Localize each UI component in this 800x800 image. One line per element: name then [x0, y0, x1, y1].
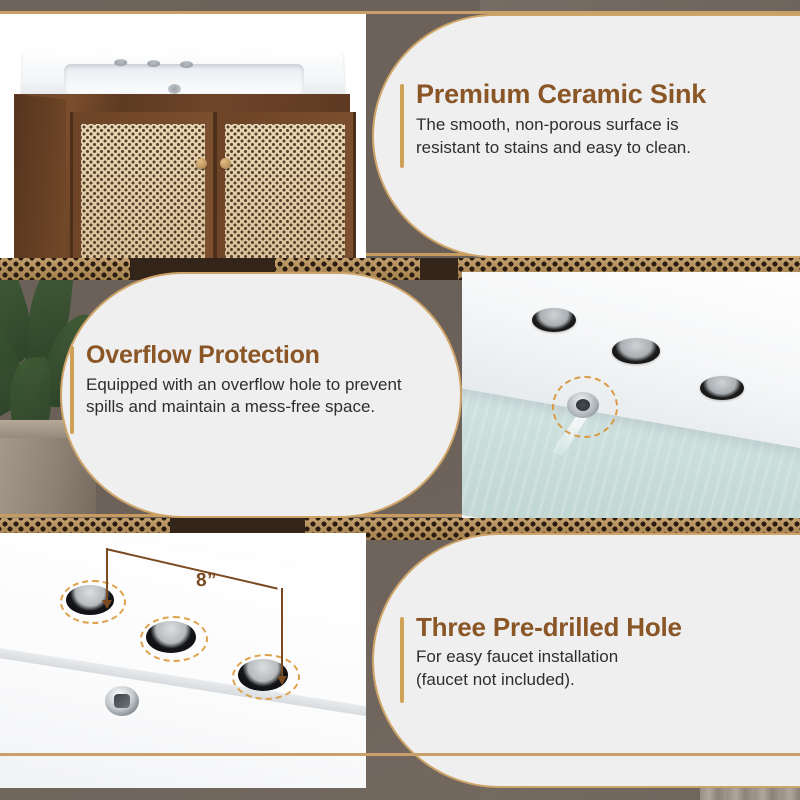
product-infographic: Premium Ceramic Sink The smooth, non-por…	[0, 0, 800, 800]
faucet-hole	[180, 61, 193, 68]
pre-drilled-hole-1-highlight	[60, 580, 126, 624]
dimension-label: 8”	[196, 570, 217, 592]
accent-bar	[70, 346, 74, 434]
feature-description-line2: (faucet not included).	[416, 669, 760, 692]
feature-description-line1: For easy faucet installation	[416, 647, 618, 666]
feature-text-block: Overflow Protection Equipped with an ove…	[86, 342, 430, 419]
cabinet-door-right	[214, 112, 356, 258]
pre-drilled-hole-2-highlight	[140, 616, 208, 662]
faucet-hole	[612, 338, 660, 364]
door-knob-left	[196, 158, 207, 169]
sink-basin	[63, 64, 304, 94]
sink-overflow-hole	[168, 84, 181, 94]
cabinet-door-left	[70, 112, 216, 258]
photo-overflow-protection	[462, 272, 800, 518]
faucet-hole	[700, 376, 744, 400]
dimension-leader-right	[281, 588, 283, 682]
overflow-hole-highlight-ring	[552, 376, 618, 438]
cabinet-side-panel	[14, 94, 66, 258]
rattan-cane-panel	[225, 124, 345, 258]
feature-description-line2: spills and maintain a mess-free space.	[86, 396, 430, 419]
photo-premium-ceramic-sink	[0, 14, 366, 258]
frame-line-top	[0, 11, 800, 14]
dimension-arrow-left	[102, 600, 112, 609]
faucet-hole	[147, 60, 160, 67]
feature-description-line1: The smooth, non-porous surface is	[416, 115, 679, 134]
feature-title: Three Pre-drilled Hole	[416, 613, 760, 642]
feature-card-content: Premium Ceramic Sink The smooth, non-por…	[400, 80, 760, 160]
feature-card-overflow-protection: Overflow Protection Equipped with an ove…	[60, 272, 462, 518]
feature-card-three-pre-drilled-hole: Three Pre-drilled Hole For easy faucet i…	[372, 533, 800, 788]
feature-description: The smooth, non-porous surface is resist…	[416, 114, 760, 160]
feature-description-line1: Equipped with an overflow hole to preven…	[86, 375, 402, 394]
cabinet-gap	[420, 258, 458, 280]
dimension-leader-left	[106, 548, 108, 606]
rattan-cane-panel	[81, 124, 205, 258]
feature-card-content: Three Pre-drilled Hole For easy faucet i…	[400, 613, 760, 691]
dimension-arrow-right	[277, 676, 287, 685]
feature-title: Overflow Protection	[86, 342, 430, 370]
faucet-hole	[114, 59, 127, 66]
feature-description-line2: resistant to stains and easy to clean.	[416, 137, 760, 160]
feature-text-block: Three Pre-drilled Hole For easy faucet i…	[416, 613, 760, 691]
feature-card-premium-ceramic-sink: Premium Ceramic Sink The smooth, non-por…	[372, 14, 800, 258]
frame-line-bottom	[0, 753, 800, 756]
vanity-cabinet	[14, 50, 350, 258]
pre-drilled-hole-3-highlight	[232, 654, 300, 700]
feature-text-block: Premium Ceramic Sink The smooth, non-por…	[416, 80, 760, 160]
feature-card-content: Overflow Protection Equipped with an ove…	[70, 342, 430, 419]
feature-description: For easy faucet installation (faucet not…	[416, 646, 760, 692]
faucet-hole	[532, 308, 576, 332]
photo-three-pre-drilled-holes	[0, 533, 366, 788]
door-knob-right	[220, 158, 231, 169]
accent-bar	[400, 84, 404, 168]
feature-description: Equipped with an overflow hole to preven…	[86, 374, 430, 420]
accent-bar	[400, 617, 404, 703]
feature-title: Premium Ceramic Sink	[416, 80, 760, 110]
sink-overflow-hole-chrome	[105, 686, 139, 716]
